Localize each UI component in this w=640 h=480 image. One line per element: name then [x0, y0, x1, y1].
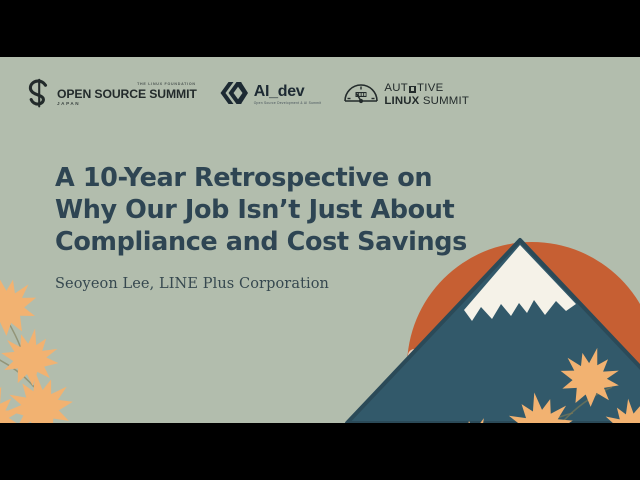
- cloud-band: [408, 334, 640, 394]
- open-source-summit-name: OPEN SOURCE SUMMIT: [57, 88, 197, 100]
- logo-open-source-summit: THE LINUX FOUNDATION OPEN SOURCE SUMMIT …: [26, 78, 197, 113]
- ai-dev-chevron-icon: [219, 80, 249, 111]
- automotive-linux-summit-line1: AUTTIVE: [384, 83, 443, 95]
- open-source-summit-foundation-label: THE LINUX FOUNDATION: [137, 83, 196, 87]
- letterbox-top: [0, 0, 640, 57]
- slide-canvas: THE LINUX FOUNDATION OPEN SOURCE SUMMIT …: [0, 57, 640, 423]
- logo-automotive-linux-summit: AUTTIVE LINUX SUMMIT: [343, 79, 469, 112]
- als-line1-suffix: TIVE: [417, 83, 444, 95]
- speedometer-gauge-icon: [343, 79, 379, 112]
- als-linux-word: LINUX: [384, 95, 419, 107]
- ai-dev-subtitle: Open Source Development & AI Summit: [254, 102, 322, 105]
- maple-leaves-right: [436, 341, 640, 423]
- open-source-summit-swirl-icon: [26, 78, 52, 113]
- als-line1-prefix: AUT: [384, 83, 408, 95]
- ai-dev-name: AI_dev: [254, 84, 305, 100]
- talk-speaker: Seoyeon Lee, LINE Plus Corporation: [55, 276, 485, 292]
- conference-logo-bar: THE LINUX FOUNDATION OPEN SOURCE SUMMIT …: [26, 70, 446, 120]
- als-square-o-glyph: [409, 86, 416, 93]
- talk-title: A 10-Year Retrospective on Why Our Job I…: [55, 162, 485, 258]
- als-summit-word: SUMMIT: [423, 95, 469, 107]
- logo-ai-dev: AI_dev Open Source Development & AI Summ…: [219, 80, 322, 111]
- automotive-linux-summit-line2: LINUX SUMMIT: [384, 96, 469, 108]
- video-slide-frame: THE LINUX FOUNDATION OPEN SOURCE SUMMIT …: [0, 0, 640, 480]
- letterbox-bottom: [0, 423, 640, 480]
- open-source-summit-region: JAPAN: [57, 102, 80, 107]
- slide-text-block: A 10-Year Retrospective on Why Our Job I…: [55, 162, 485, 292]
